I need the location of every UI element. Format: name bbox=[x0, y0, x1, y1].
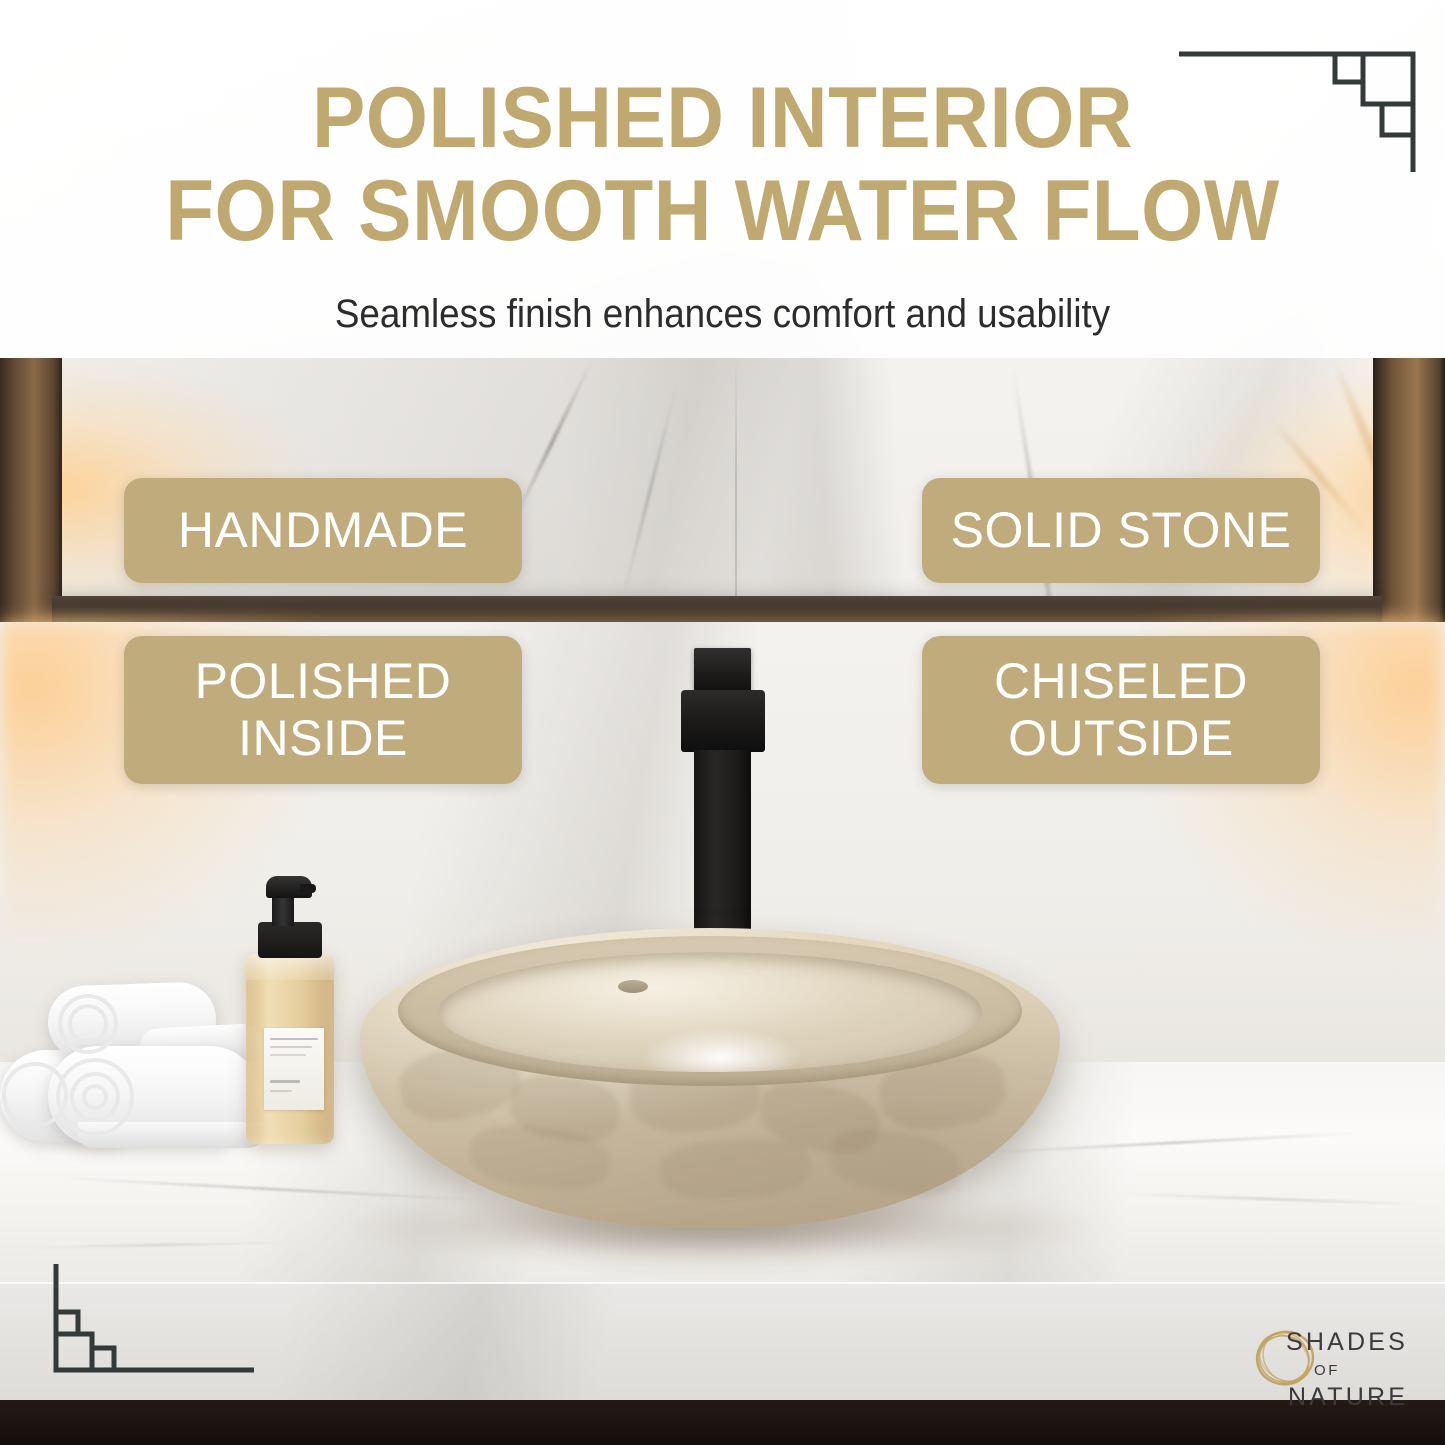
faucet-handle bbox=[694, 648, 751, 692]
faucet-neck bbox=[681, 690, 765, 752]
soap-pump-nozzle bbox=[300, 884, 316, 893]
stepped-corner-ornament-icon bbox=[42, 1262, 292, 1392]
soap-bottle-label bbox=[264, 1028, 324, 1110]
bronze-frame-right bbox=[1373, 358, 1445, 658]
vanity-cabinet bbox=[0, 1400, 1445, 1445]
travertine-vessel-sink bbox=[360, 928, 1060, 1228]
logo-line-nature: NATURE bbox=[1288, 1385, 1426, 1410]
feature-badge-solid-stone[interactable]: SOLID STONE bbox=[922, 478, 1320, 583]
logo-line-shades: SHADES bbox=[1286, 1330, 1426, 1355]
soap-label-text-line bbox=[270, 1054, 306, 1056]
logo-line-of: OF bbox=[1314, 1363, 1426, 1378]
towel-spiral bbox=[68, 1004, 108, 1044]
feature-badge-chiseled-outside[interactable]: CHISELED OUTSIDE bbox=[922, 636, 1320, 784]
logo-wordmark: SHADES OF NATURE bbox=[1286, 1330, 1426, 1410]
sink-polished-interior bbox=[438, 952, 982, 1072]
feature-badge-polished-inside[interactable]: POLISHED INSIDE bbox=[124, 636, 522, 784]
page-subtitle: Seamless finish enhances comfort and usa… bbox=[58, 292, 1387, 337]
sink-drain bbox=[618, 980, 648, 993]
soap-pump-stem bbox=[272, 896, 294, 926]
corner-ornament-top-right bbox=[1177, 32, 1427, 182]
product-infographic: POLISHED INTERIOR FOR SMOOTH WATER FLOW … bbox=[0, 0, 1445, 1445]
brand-logo[interactable]: SHADES OF NATURE bbox=[1248, 1318, 1423, 1418]
stepped-corner-ornament-icon bbox=[1177, 32, 1427, 177]
soap-label-text-line bbox=[270, 1080, 300, 1083]
towel-spiral bbox=[82, 1084, 108, 1110]
corner-ornament-bottom-left bbox=[42, 1262, 292, 1397]
soap-label-text-line bbox=[270, 1038, 318, 1040]
faucet-spout bbox=[694, 750, 751, 950]
soap-label-text-line bbox=[270, 1090, 292, 1092]
feature-badge-handmade[interactable]: HANDMADE bbox=[124, 478, 522, 583]
soap-pump-collar bbox=[258, 922, 322, 958]
soap-label-text-line bbox=[270, 1046, 312, 1048]
